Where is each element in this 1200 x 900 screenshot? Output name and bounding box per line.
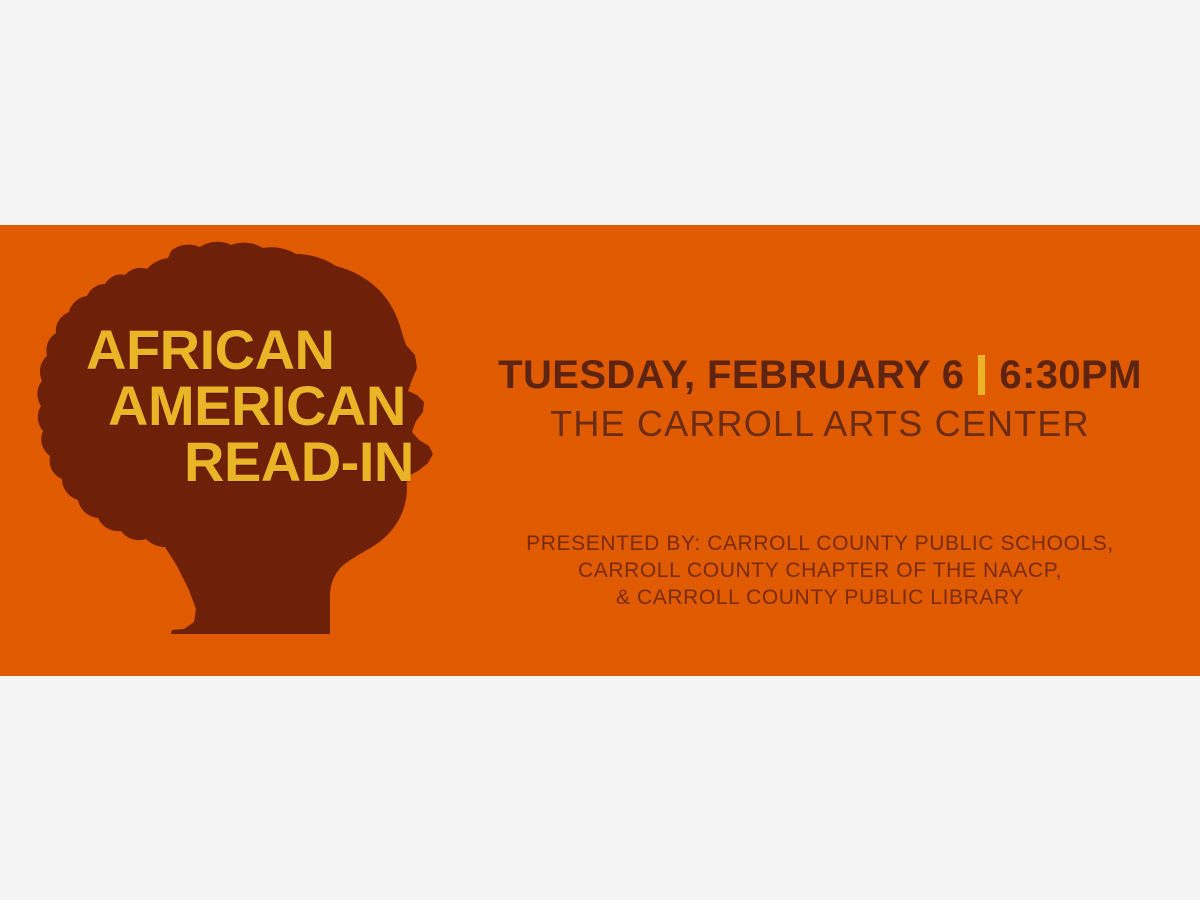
presenter-line-2: CARROLL COUNTY CHAPTER OF THE NAACP, bbox=[470, 557, 1170, 584]
page-canvas: AFRICAN AMERICAN READ-IN TUESDAY, FEBRUA… bbox=[0, 0, 1200, 900]
event-datetime-line: TUESDAY, FEBRUARY 6 6:30PM bbox=[470, 353, 1170, 397]
event-date: TUESDAY, FEBRUARY 6 bbox=[498, 353, 964, 397]
afro-profile-silhouette-icon bbox=[0, 225, 500, 676]
artwork-region bbox=[0, 225, 500, 676]
event-info-region: TUESDAY, FEBRUARY 6 6:30PM THE CARROLL A… bbox=[470, 225, 1200, 676]
event-time: 6:30PM bbox=[999, 353, 1141, 397]
separator-bar-icon bbox=[978, 355, 985, 395]
event-banner: AFRICAN AMERICAN READ-IN TUESDAY, FEBRUA… bbox=[0, 225, 1200, 676]
presenter-line-1: PRESENTED BY: CARROLL COUNTY PUBLIC SCHO… bbox=[470, 530, 1170, 557]
event-venue: THE CARROLL ARTS CENTER bbox=[470, 404, 1170, 444]
presenters-group: PRESENTED BY: CARROLL COUNTY PUBLIC SCHO… bbox=[470, 530, 1170, 611]
presenter-line-3: & CARROLL COUNTY PUBLIC LIBRARY bbox=[470, 584, 1170, 611]
